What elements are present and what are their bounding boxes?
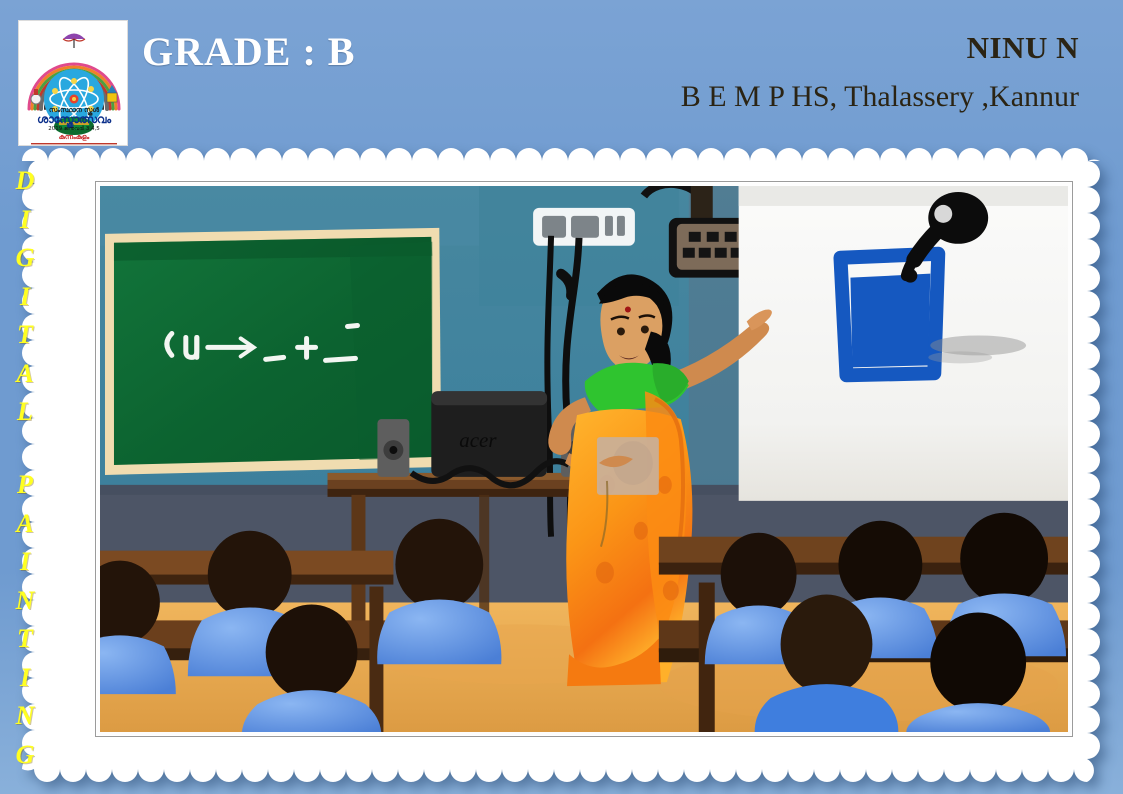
logo-text-line4: കുന്നംകുളം (19, 134, 128, 141)
painting-canvas: acer (100, 186, 1068, 732)
acer-logo-text: acer (459, 428, 497, 452)
school-name: B E M P HS, Thalassery ,Kannur (681, 80, 1079, 114)
student-name: NINU N (967, 30, 1079, 66)
grade-label: GRADE : B (142, 28, 355, 75)
painting-frame: acer (95, 181, 1073, 737)
speaker-left (377, 419, 409, 477)
science-festival-logo: സംസ്ഥാന സ്കൂൾ ശാസ്ത്രോത്സവം 2019 ജനുവരി … (18, 20, 128, 146)
header-banner: സംസ്ഥാന സ്കൂൾ ശാസ്ത്രോത്സവം 2019 ജനുവരി … (0, 0, 1123, 140)
logo-text-line3: 2019 ജനുവരി 3,4,5 (19, 127, 128, 133)
page-background: സംസ്ഥാന സ്കൂൾ ശാസ്ത്രോത്സവം 2019 ജനുവരി … (0, 0, 1123, 794)
acer-computer: acer (431, 391, 547, 477)
projection-screen (739, 186, 1068, 501)
classroom-scene-illustration: acer (100, 186, 1068, 732)
logo-text-line2: ശാസ്ത്രോത്സവം (19, 114, 128, 125)
